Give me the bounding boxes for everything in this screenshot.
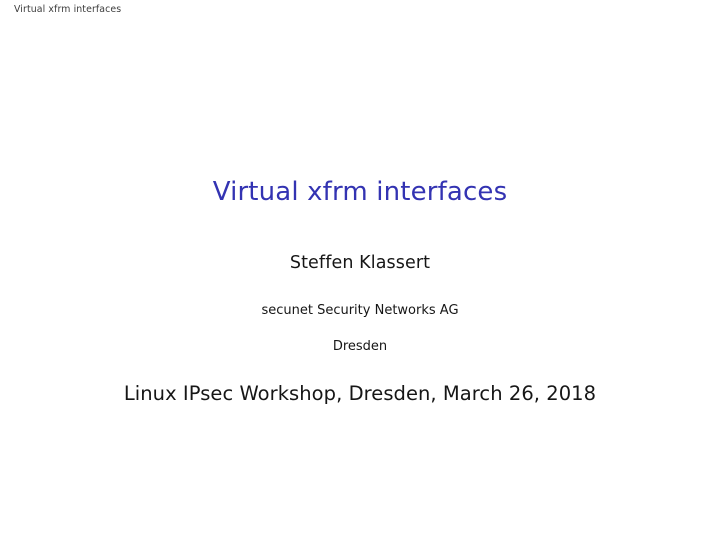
institute-name: secunet Security Networks AG (0, 303, 720, 319)
presentation-slide: Virtual xfrm interfaces Virtual xfrm int… (0, 0, 720, 541)
event-date: Linux IPsec Workshop, Dresden, March 26,… (0, 382, 720, 405)
page-title: Virtual xfrm interfaces (0, 177, 720, 207)
author-name: Steffen Klassert (0, 253, 720, 274)
institute-location: Dresden (0, 339, 720, 355)
titlepage-block: Virtual xfrm interfaces Steffen Klassert… (0, 0, 720, 541)
slide-footline-bar (0, 523, 720, 541)
